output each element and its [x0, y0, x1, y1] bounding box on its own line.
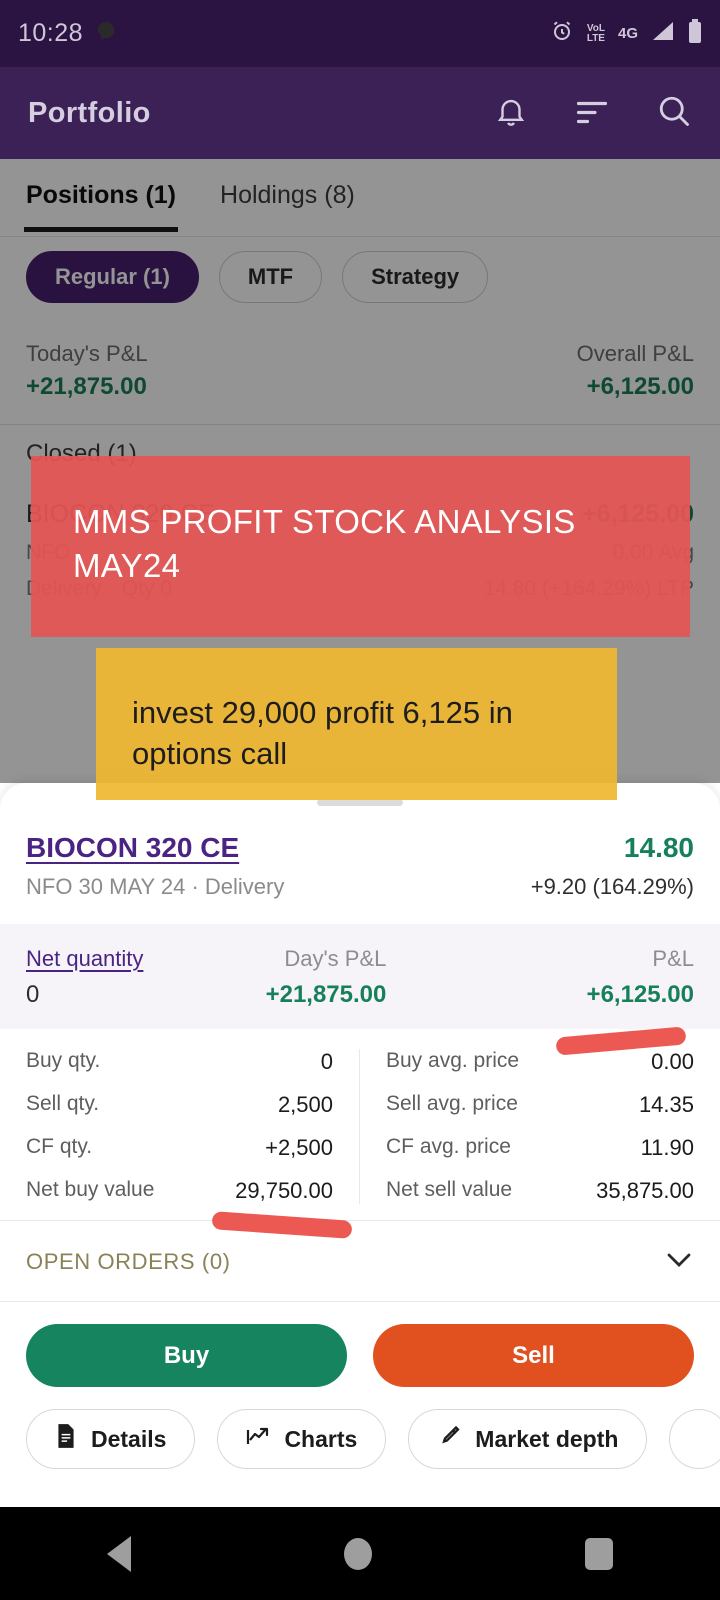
- position-summary-strip: Net quantity 0 Day's P&L +21,875.00 P&L …: [0, 924, 720, 1029]
- recents-icon[interactable]: [585, 1538, 613, 1570]
- quick-actions-row: Details Charts Market depth: [0, 1387, 720, 1469]
- filter-icon[interactable]: [574, 96, 610, 131]
- detail-key: CF avg. price: [386, 1135, 511, 1161]
- document-icon: [55, 1423, 77, 1455]
- market-depth-action-label: Market depth: [475, 1426, 618, 1453]
- phone-screen: 10:28 VoLLTE 4G Portfolio: [0, 0, 720, 1600]
- detail-row: Buy qty. 0: [26, 1049, 333, 1075]
- open-orders-row[interactable]: OPEN ORDERS (0): [0, 1221, 720, 1302]
- pnl-label: P&L: [652, 946, 694, 972]
- detail-row: CF qty. +2,500: [26, 1135, 333, 1161]
- bell-icon[interactable]: [494, 93, 528, 134]
- instrument-header: BIOCON 320 CE 14.80 NFO 30 MAY 24 · Deli…: [0, 806, 720, 900]
- detail-row: CF avg. price 11.90: [386, 1135, 694, 1161]
- detail-value: 0: [321, 1049, 333, 1075]
- net-quantity-value: 0: [26, 981, 143, 1009]
- network-type-label: 4G: [618, 25, 638, 42]
- detail-key: Sell qty.: [26, 1092, 99, 1118]
- trade-cta-row: Buy Sell: [0, 1302, 720, 1387]
- buy-button[interactable]: Buy: [26, 1324, 347, 1387]
- instrument-ltp: 14.80: [624, 832, 694, 864]
- net-quantity-block: Net quantity 0: [26, 946, 143, 1009]
- detail-value: 14.35: [639, 1092, 694, 1118]
- market-depth-action-chip[interactable]: Market depth: [408, 1409, 647, 1469]
- position-detail-sheet: BIOCON 320 CE 14.80 NFO 30 MAY 24 · Deli…: [0, 783, 720, 1507]
- details-action-label: Details: [91, 1426, 166, 1453]
- sheet-drag-handle[interactable]: [317, 799, 403, 806]
- sell-button[interactable]: Sell: [373, 1324, 694, 1387]
- detail-key: Net buy value: [26, 1178, 154, 1204]
- details-action-chip[interactable]: Details: [26, 1409, 195, 1469]
- chevron-down-icon[interactable]: [664, 1250, 694, 1275]
- detail-key: Buy qty.: [26, 1049, 100, 1075]
- days-pnl-value: +21,875.00: [266, 981, 387, 1009]
- pnl-block: P&L +6,125.00: [587, 946, 694, 1009]
- search-icon[interactable]: [656, 93, 692, 134]
- battery-icon: [688, 19, 702, 48]
- detail-key: Buy avg. price: [386, 1049, 519, 1075]
- open-orders-label: OPEN ORDERS (0): [26, 1249, 231, 1275]
- detail-value: 2,500: [278, 1092, 333, 1118]
- days-pnl-label: Day's P&L: [284, 946, 386, 972]
- days-pnl-block: Day's P&L +21,875.00: [266, 946, 387, 1009]
- eyedropper-icon: [437, 1424, 461, 1454]
- chart-up-icon: [246, 1424, 270, 1454]
- alarm-icon: [550, 19, 574, 48]
- instrument-change: +9.20 (164.29%): [531, 874, 694, 900]
- overflow-action-chip[interactable]: [669, 1409, 720, 1469]
- details-column-left: Buy qty. 0 Sell qty. 2,500 CF qty. +2,50…: [0, 1049, 360, 1204]
- detail-row: Net sell value 35,875.00: [386, 1178, 694, 1204]
- detail-row: Sell avg. price 14.35: [386, 1092, 694, 1118]
- detail-value: 35,875.00: [596, 1178, 694, 1204]
- instrument-name-link[interactable]: BIOCON 320 CE: [26, 832, 239, 864]
- status-time: 10:28: [18, 19, 83, 48]
- detail-key: CF qty.: [26, 1135, 92, 1161]
- signal-icon: [651, 20, 675, 47]
- detail-value: 0.00: [651, 1049, 694, 1075]
- detail-value: +2,500: [265, 1135, 333, 1161]
- detail-value: 29,750.00: [235, 1178, 333, 1204]
- charts-action-label: Charts: [284, 1426, 357, 1453]
- pnl-value: +6,125.00: [587, 981, 694, 1009]
- detail-row: Net buy value 29,750.00: [26, 1178, 333, 1204]
- position-details-grid: Buy qty. 0 Sell qty. 2,500 CF qty. +2,50…: [0, 1029, 720, 1221]
- net-quantity-label[interactable]: Net quantity: [26, 946, 143, 972]
- instrument-meta: NFO 30 MAY 24 · Delivery: [26, 874, 284, 900]
- status-bar: 10:28 VoLLTE 4G: [0, 0, 720, 67]
- back-icon[interactable]: [107, 1536, 131, 1572]
- details-column-right: Buy avg. price 0.00 Sell avg. price 14.3…: [360, 1049, 720, 1204]
- page-title: Portfolio: [28, 97, 151, 130]
- detail-row: Sell qty. 2,500: [26, 1092, 333, 1118]
- detail-key: Sell avg. price: [386, 1092, 518, 1118]
- home-icon[interactable]: [344, 1538, 372, 1570]
- annotation-red-banner: MMS PROFIT STOCK ANALYSIS MAY24: [31, 456, 690, 637]
- app-bar: Portfolio: [0, 67, 720, 159]
- annotation-yellow-banner: invest 29,000 profit 6,125 in options ca…: [96, 648, 617, 800]
- detail-value: 11.90: [641, 1135, 694, 1161]
- android-nav-bar: [0, 1507, 720, 1600]
- detail-row: Buy avg. price 0.00: [386, 1049, 694, 1075]
- charts-action-chip[interactable]: Charts: [217, 1409, 386, 1469]
- volte-icon: VoLLTE: [587, 24, 605, 44]
- detail-key: Net sell value: [386, 1178, 512, 1204]
- chat-bubble-icon: [95, 20, 117, 47]
